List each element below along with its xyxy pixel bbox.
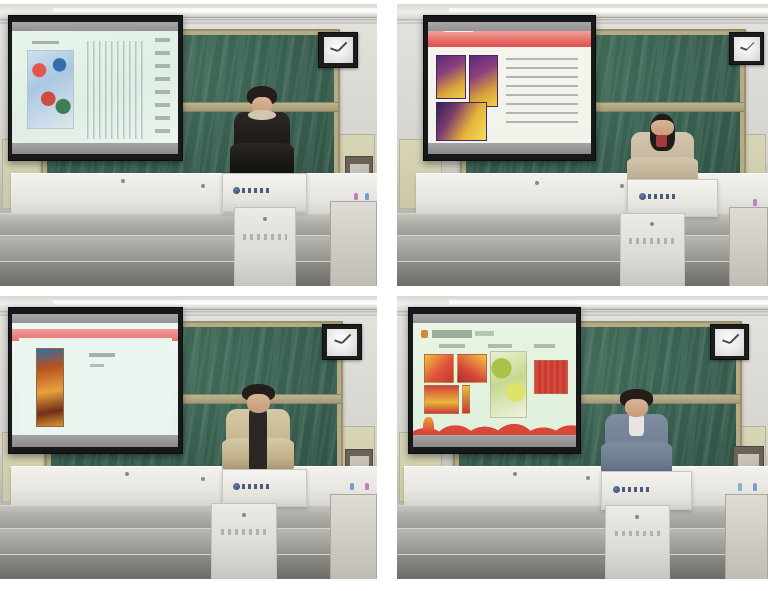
screen-bottom-bar: [12, 143, 178, 155]
podium-body: [620, 213, 685, 286]
floor-step-1: [0, 505, 377, 529]
podium-button[interactable]: [242, 513, 246, 517]
slide-artwork-image: [436, 55, 466, 99]
counter-knob: [535, 181, 539, 185]
slide-header-title: [444, 31, 473, 32]
slide-content: [413, 323, 576, 447]
counter-knob: [125, 472, 129, 476]
slide-title-text: [432, 330, 471, 337]
projection-screen: [423, 15, 596, 161]
podium-university-logo: [613, 486, 652, 493]
counter-knob: [201, 184, 205, 188]
side-cabinet: [330, 494, 377, 579]
slide-artwork-image: [424, 385, 459, 414]
slide-column-heading: [488, 344, 512, 348]
counter-knob: [586, 476, 590, 480]
podium-university-logo: [639, 193, 678, 200]
front-counter: [11, 173, 377, 213]
slide-artwork-image: [436, 102, 487, 141]
slide-content: [428, 31, 591, 155]
side-cabinet: [729, 207, 768, 286]
slide-artwork-image: [36, 348, 65, 427]
university-name-text: [242, 484, 272, 489]
slide-artwork-image: [27, 50, 74, 129]
university-crest-icon: [233, 187, 240, 194]
clock-face: [734, 37, 760, 61]
podium-grille: [615, 531, 660, 537]
podium-university-logo: [233, 187, 272, 194]
clock-face: [327, 329, 356, 355]
podium-body: [234, 207, 296, 286]
photo-panel-bottom-right[interactable]: [397, 296, 768, 579]
wall-clock: [729, 32, 764, 65]
screen-surface: [428, 31, 591, 155]
slide-column-heading: [439, 344, 465, 348]
floor-step-2: [0, 528, 377, 554]
slide-artwork-image: [457, 354, 487, 383]
front-counter: [11, 466, 377, 507]
presenter-scarf: [656, 135, 667, 148]
floor-step-3: [0, 261, 377, 286]
desk-object: [354, 193, 358, 200]
podium-body: [211, 503, 277, 579]
photo-panel-bottom-left[interactable]: [0, 296, 377, 579]
slide-artwork-image: [469, 55, 499, 106]
slide-body-text: [506, 58, 578, 130]
clock-minute-hand: [342, 334, 351, 343]
slide-content: [12, 31, 178, 155]
slide-bullet-marker: [421, 330, 428, 337]
podium-university-logo: [233, 483, 272, 490]
slide-title-text: [89, 353, 116, 358]
university-name-text: [648, 194, 678, 199]
clock-minute-hand: [729, 334, 738, 343]
university-name-text: [622, 487, 652, 492]
desk-object: [738, 483, 742, 491]
podium-grille: [221, 529, 267, 535]
slide-seal-column: [155, 38, 170, 142]
desk-object: [753, 199, 757, 206]
podium-button[interactable]: [635, 515, 639, 519]
presenter-vest: [249, 409, 267, 474]
screen-surface: [12, 31, 178, 155]
slide-column-heading: [534, 344, 555, 348]
screen-surface: [413, 323, 576, 447]
floor-step-3: [397, 261, 768, 286]
projection-screen: [408, 307, 581, 453]
screen-surface: [12, 323, 178, 447]
projection-screen: [8, 15, 183, 161]
slide-artwork-image: [424, 354, 454, 383]
slide-header-band: [428, 31, 591, 47]
counter-knob: [201, 477, 205, 481]
classroom-scene: [397, 4, 768, 286]
desk-object: [753, 483, 757, 491]
classroom-scene: [0, 4, 377, 286]
podium-grille: [243, 234, 286, 240]
screen-bottom-bar: [413, 435, 576, 447]
presenter: [226, 384, 290, 477]
counter-knob: [513, 472, 517, 476]
slide-caption: [32, 41, 59, 45]
slide-vertical-text: [87, 41, 143, 140]
slide-artwork-image: [462, 385, 471, 414]
slide-artwork-image: [490, 351, 528, 418]
classroom-scene: [0, 296, 377, 579]
presenter-face: [625, 399, 648, 417]
university-crest-icon: [613, 486, 620, 493]
screen-bottom-bar: [428, 143, 591, 155]
podium-top: [222, 469, 307, 508]
counter-knob: [620, 184, 624, 188]
photo-panel-top-right[interactable]: [397, 4, 768, 286]
side-cabinet: [330, 201, 377, 286]
podium-grille: [629, 238, 674, 244]
presenter-arms: [601, 442, 672, 473]
photo-grid-page: [0, 0, 768, 591]
slide-subtitle-text: [90, 364, 103, 367]
screen-bottom-bar: [12, 435, 178, 447]
wall-clock: [322, 324, 362, 360]
counter-knob: [121, 179, 125, 183]
presenter: [234, 86, 291, 185]
podium-top: [627, 179, 718, 218]
university-crest-icon: [639, 193, 646, 200]
side-cabinet: [725, 494, 768, 579]
wall-clock: [710, 324, 749, 360]
wall-clock: [318, 32, 358, 68]
floor-step-2: [0, 235, 377, 261]
floor-step-1: [397, 505, 768, 529]
clock-face: [715, 329, 744, 355]
slide-content: [12, 323, 178, 447]
clock-minute-hand: [746, 42, 754, 50]
floor-step-3: [397, 554, 768, 579]
podium-body: [605, 505, 670, 579]
podium-button[interactable]: [650, 222, 654, 226]
photo-panel-top-left[interactable]: [0, 4, 377, 286]
front-counter: [404, 466, 768, 507]
university-name-text: [242, 188, 272, 193]
presenter-face: [651, 120, 674, 136]
clock-minute-hand: [338, 42, 347, 51]
presenter: [605, 389, 668, 480]
floor-step-2: [397, 528, 768, 554]
podium-button[interactable]: [263, 217, 267, 221]
slide-subtitle-text: [475, 331, 495, 336]
desk-object: [365, 483, 369, 490]
podium-top: [222, 173, 307, 212]
podium-top: [601, 471, 692, 510]
desk-object: [365, 193, 369, 200]
desk-object: [350, 483, 354, 490]
clock-face: [324, 37, 353, 63]
floor-step-2: [397, 235, 768, 261]
floor-step-3: [0, 554, 377, 579]
floor-step-1: [0, 213, 377, 237]
university-crest-icon: [233, 483, 240, 490]
presenter-arms: [230, 143, 293, 177]
projection-screen: [8, 307, 183, 453]
classroom-scene: [397, 296, 768, 579]
slide-artwork-image: [534, 360, 569, 394]
presenter-face: [247, 394, 270, 413]
